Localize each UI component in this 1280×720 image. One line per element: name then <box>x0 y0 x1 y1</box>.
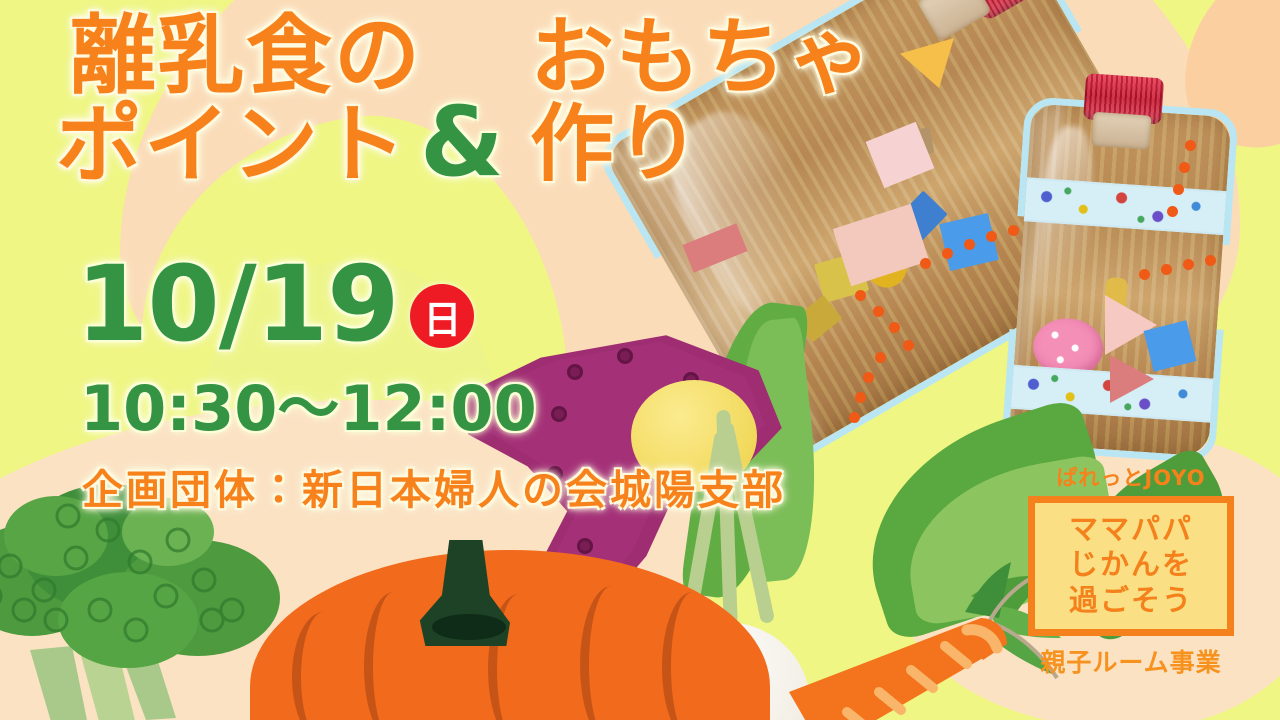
event-poster: 離乳食の ポイント & おもちゃ 作り 10/19 日 10:30〜12:00 … <box>0 0 1280 720</box>
logo-bottom-label: 親子ルーム事業 <box>1028 643 1234 679</box>
logo-line-2: じかんを <box>1041 547 1221 582</box>
logo-top-label: ぱれっとJOYO <box>1028 462 1234 492</box>
organizer-line: 企画団体：新日本婦人の会城陽支部 <box>82 470 786 511</box>
sensory-bottle-small-photo <box>1008 103 1231 456</box>
logo-line-1: ママパパ <box>1041 512 1221 547</box>
title-left-line-1: 離乳食の <box>70 12 422 101</box>
event-date: 10/19 <box>76 252 398 356</box>
sweet-potato-eye-2 <box>617 348 633 364</box>
logo-line-3: 過ごそう <box>1041 583 1221 618</box>
pumpkin-stem-shadow <box>432 614 506 640</box>
palette-joyo-logo: ぱれっとJOYO ママパパ じかんを 過ごそう 親子ルーム事業 <box>1028 462 1234 679</box>
logo-box: ママパパ じかんを 過ごそう <box>1028 496 1234 636</box>
ampersand-separator: & <box>420 94 504 190</box>
sweet-potato-eye-4 <box>551 406 567 422</box>
title-left-line-2: ポイント <box>56 101 422 190</box>
sweet-potato-eye-1 <box>567 364 583 380</box>
pumpkin <box>250 540 770 720</box>
title-right: おもちゃ 作り <box>530 14 874 189</box>
title-right-line-1: おもちゃ <box>530 14 874 101</box>
bottle-neck-small <box>1091 112 1151 150</box>
day-of-week-badge: 日 <box>410 284 474 348</box>
event-time: 10:30〜12:00 <box>80 378 537 440</box>
title-right-line-2: 作り <box>530 101 874 188</box>
event-date-row: 10/19 日 <box>76 252 474 356</box>
confetti-triangle-rose <box>1110 355 1154 403</box>
title-left: 離乳食の ポイント <box>56 12 422 191</box>
